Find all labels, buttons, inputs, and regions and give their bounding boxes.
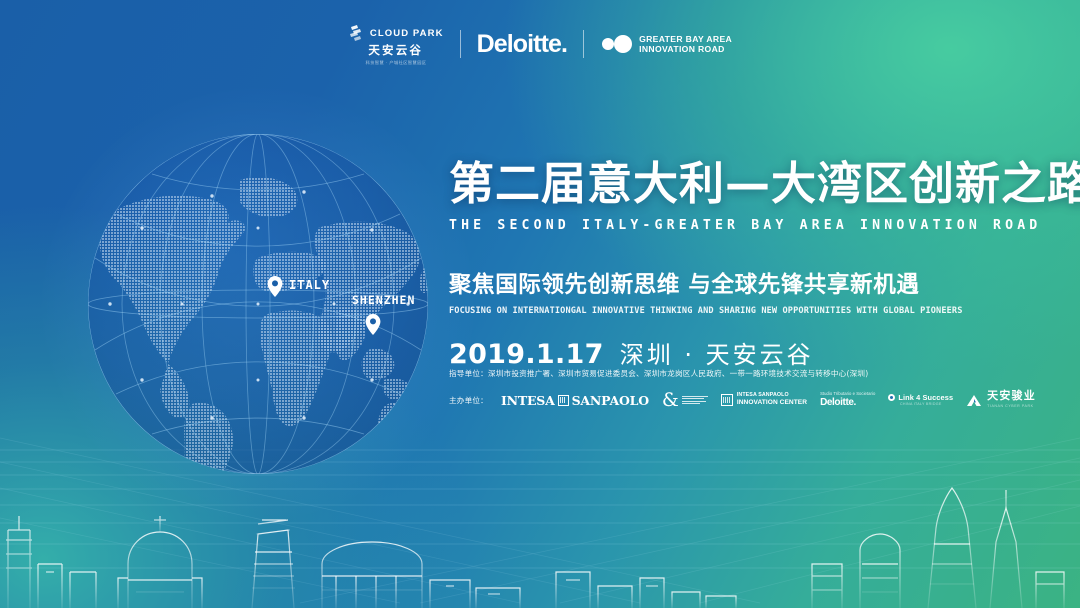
ic-line2: INNOVATION CENTER [737,399,807,408]
header-logo-bar: CLOUD PARK 天安云谷 科技智慧 · 产城社区智慧园区 Deloitte… [0,24,1080,65]
page-title: 第二届意大利—大湾区创新之路 [449,160,1037,209]
subtitle-en: FOCUSING ON INTERNATIONGAL INNOVATIVE TH… [449,306,1037,316]
cloud-park-tagline: 科技智慧 · 产城社区智慧园区 [365,61,426,65]
deloitte-logo: Deloitte. [477,30,568,59]
logo-deloitte-italy: Studio Tributario e Societario Deloitte. [820,392,875,408]
greater-bay-area-logo: GREATER BAY AREA INNOVATION ROAD [600,34,732,55]
innovation-center-text: INTESA SANPAOLO INNOVATION CENTER [737,392,807,407]
ic-line1: INTESA SANPAOLO [737,392,789,398]
tianan-name-en: TIANAN CYBER PARK [987,405,1036,409]
cloud-park-name-cn: 天安云谷 [368,46,423,58]
event-date: 2019.1.17 [449,339,604,370]
intesa-word-1: INTESA [501,393,555,408]
organizers-block: 指导单位：深圳市投资推广署、深圳市贸易促进委员会、深圳市龙岗区人民政府、一带一路… [449,368,1049,411]
cloud-park-logo: CLOUD PARK 天安云谷 科技智慧 · 产城社区智慧园区 [348,24,444,65]
date-venue-bar: 2019.1.17 深圳 · 天安云谷 [449,335,1037,370]
world-globe-graphic: ITALY SHENZHEN [72,118,444,490]
shenzhen-skyline [556,474,1064,608]
gba-dual-circle-icon [600,35,632,53]
svg-text:SHENZHEN: SHENZHEN [352,293,415,307]
link4success-word: Link 4 Success [898,394,953,401]
intesa-square-icon [721,394,733,406]
logo-intesa-innovation-center: INTESA SANPAOLO INNOVATION CENTER [721,392,807,407]
logo-link4success: Link 4 Success CHINA ITALY BRIDGE [888,394,953,407]
gba-line1: GREATER BAY AREA [639,34,732,44]
event-venue: 深圳 · 天安云谷 [620,335,814,370]
gba-text: GREATER BAY AREA INNOVATION ROAD [639,34,732,55]
deloitte-studio-line: Studio Tributario e Societario [820,392,875,396]
logo-ampersand: & [662,389,708,411]
link4success-sub: CHINA ITALY BRIDGE [900,403,942,407]
main-copy-block: 第二届意大利—大湾区创新之路 THE SECOND ITALY-GREATER … [449,160,1037,370]
intesa-square-icon [558,395,569,406]
link-dot-icon [888,394,895,401]
intesa-word-2: SANPAOLO [572,393,649,408]
deloitte-wordmark: Deloitte. [477,30,568,59]
mountain-icon [966,394,982,407]
tianan-name-cn: 天安骏业 [987,391,1036,402]
host-units-label: 主办单位： [449,395,488,406]
ampersand-glyph: & [662,389,679,411]
italy-landmarks-skyline [6,516,520,608]
header-divider-1 [460,30,461,58]
ampersand-lines-icon [682,396,708,404]
cloud-park-mark-icon [348,24,365,43]
page-title-en: THE SECOND ITALY-GREATER BAY AREA INNOVA… [449,218,1037,233]
deloitte-wordmark-small: Deloitte. [820,398,875,408]
host-units-row: 主办单位： INTESA SANPAOLO & INTESA SANPAOLO … [449,389,1049,411]
city-skyline [0,468,1080,608]
svg-text:ITALY: ITALY [289,278,330,292]
cloud-park-name-en: CLOUD PARK [370,29,444,39]
logo-intesa-sanpaolo: INTESA SANPAOLO [501,393,649,408]
subtitle-cn: 聚焦国际领先创新思维 与全球先锋共享新机遇 [449,267,1037,299]
logo-tianan-cyber-park: 天安骏业 TIANAN CYBER PARK [966,391,1036,408]
event-poster: ITALY SHENZHEN [0,0,1080,608]
header-divider-2 [583,30,584,58]
guidance-units-line: 指导单位：深圳市投资推广署、深圳市贸易促进委员会、深圳市龙岗区人民政府、一带一路… [449,368,1049,379]
gba-line2: INNOVATION ROAD [639,44,725,54]
